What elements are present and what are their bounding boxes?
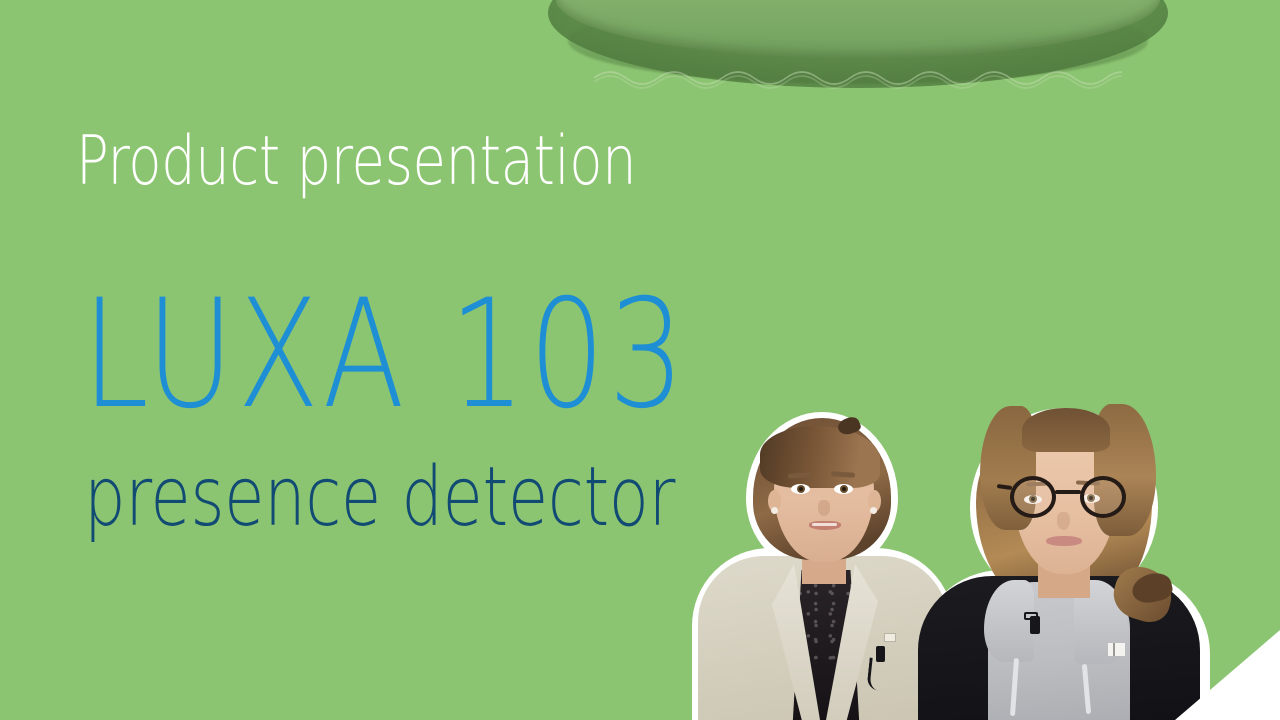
nose (818, 500, 830, 516)
product-image-ceiling-detector (548, 0, 1168, 106)
lapel-microphone (1030, 616, 1040, 634)
earring-right (870, 507, 877, 514)
mouth (1046, 536, 1082, 546)
eye-left (791, 484, 810, 494)
nose (1057, 512, 1070, 530)
presenter-left (698, 420, 948, 720)
lapel-microphone-clip (884, 633, 896, 642)
detector-scallop-band (594, 60, 1122, 90)
jacket-pin-badge (1108, 643, 1125, 656)
presenter-right (918, 402, 1200, 720)
hair-sweep (760, 426, 880, 488)
eye-right (834, 484, 853, 494)
earring-left (771, 507, 778, 514)
slide-subline: presence detector (84, 457, 675, 539)
hair-part (1022, 408, 1110, 452)
presentation-slide: Product presentation LUXA 103 presence d… (0, 0, 1280, 720)
teeth (812, 523, 837, 526)
glasses-bridge (1055, 490, 1081, 494)
glasses-lens-left (1010, 476, 1056, 518)
glasses-lens-right (1080, 476, 1126, 518)
presenter-group (690, 395, 1250, 720)
slide-eyebrow: Product presentation (76, 128, 636, 196)
slide-headline: LUXA 103 (82, 280, 688, 430)
